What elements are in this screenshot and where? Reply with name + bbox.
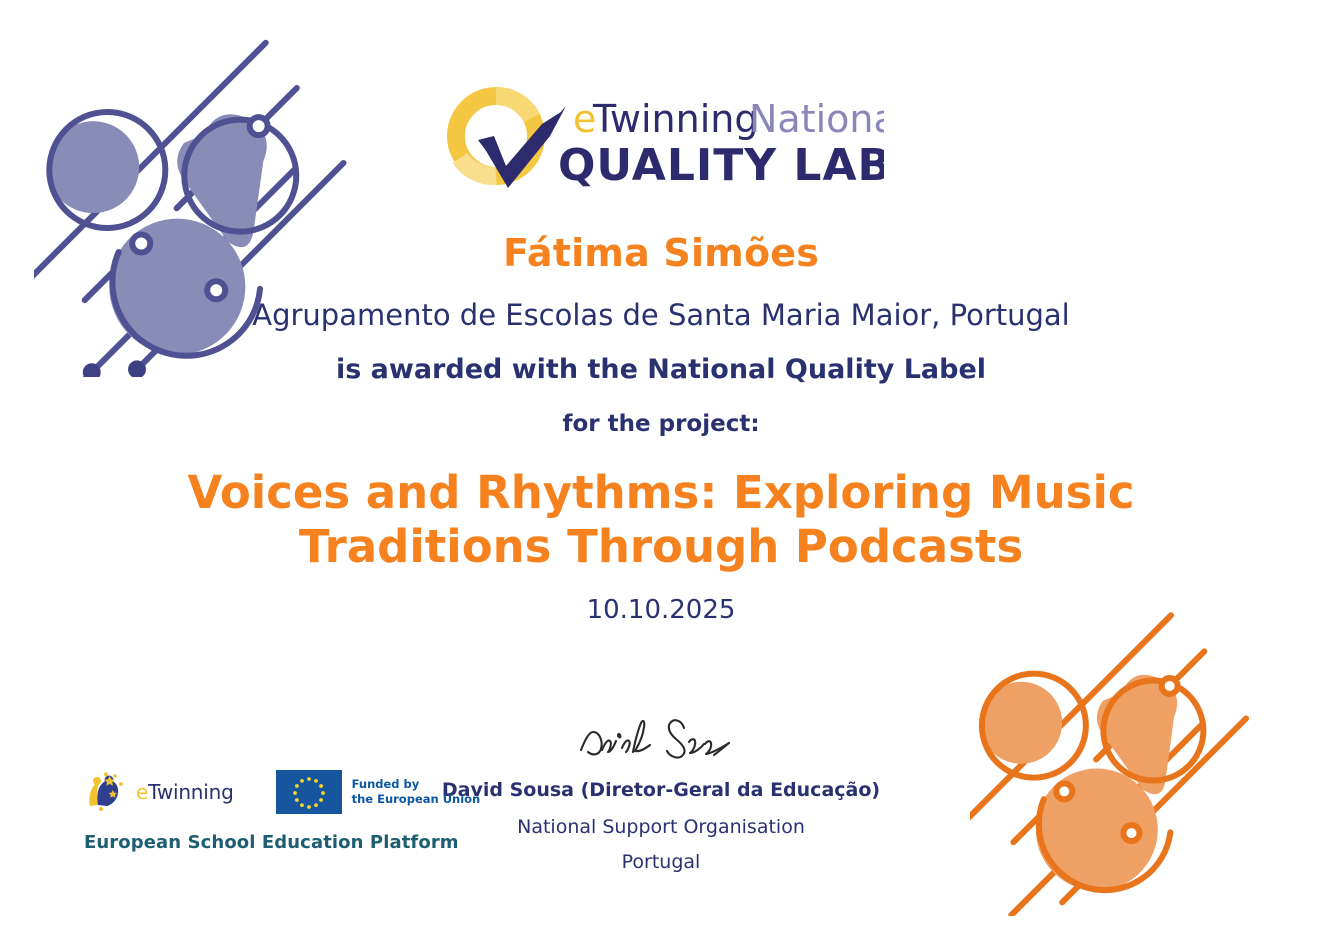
quality-label-logo: e Twinning National QUALITY LABEL [0, 84, 1322, 192]
signatory-country: Portugal [401, 850, 921, 875]
for-project-label: for the project: [60, 411, 1262, 439]
certificate-page: e Twinning National QUALITY LABEL Fátima… [0, 0, 1322, 934]
etwinning-logo: eTwinning [84, 772, 234, 812]
eu-flag-icon [276, 770, 342, 814]
award-statement: is awarded with the National Quality Lab… [60, 354, 1262, 386]
recipient-school: Agrupamento de Escolas de Santa Maria Ma… [60, 298, 1262, 333]
handwritten-signature-image [571, 712, 751, 770]
award-date: 10.10.2025 [60, 595, 1262, 626]
eu-funding-line-1: Funded by [352, 777, 481, 792]
certificate-body: Fátima Simões Agrupamento de Escolas de … [60, 232, 1262, 626]
eu-funding-logo: Funded by the European Union [276, 770, 481, 814]
footer-logos: eTwinning [84, 768, 484, 853]
corner-decoration-bottom-right [970, 596, 1300, 916]
etwinning-wordmark-e: e [136, 780, 148, 804]
eu-funding-text: Funded by the European Union [352, 777, 481, 807]
etwinning-national-quality-label-logo: e Twinning National QUALITY LABEL [438, 84, 884, 192]
eu-funding-line-2: the European Union [352, 792, 481, 807]
etwinning-figures-icon [84, 772, 130, 812]
etwinning-wordmark: eTwinning [136, 780, 234, 804]
logo-text-national: National [749, 97, 884, 141]
logo-text-quality-label: QUALITY LABEL [558, 140, 884, 191]
project-title: Voices and Rhythms: Exploring Music Trad… [60, 466, 1262, 572]
etwinning-wordmark-twinning: Twinning [148, 780, 234, 804]
logo-text-twinning: Twinning [592, 97, 759, 141]
platform-name: European School Education Platform [84, 832, 484, 853]
recipient-name: Fátima Simões [60, 232, 1262, 276]
